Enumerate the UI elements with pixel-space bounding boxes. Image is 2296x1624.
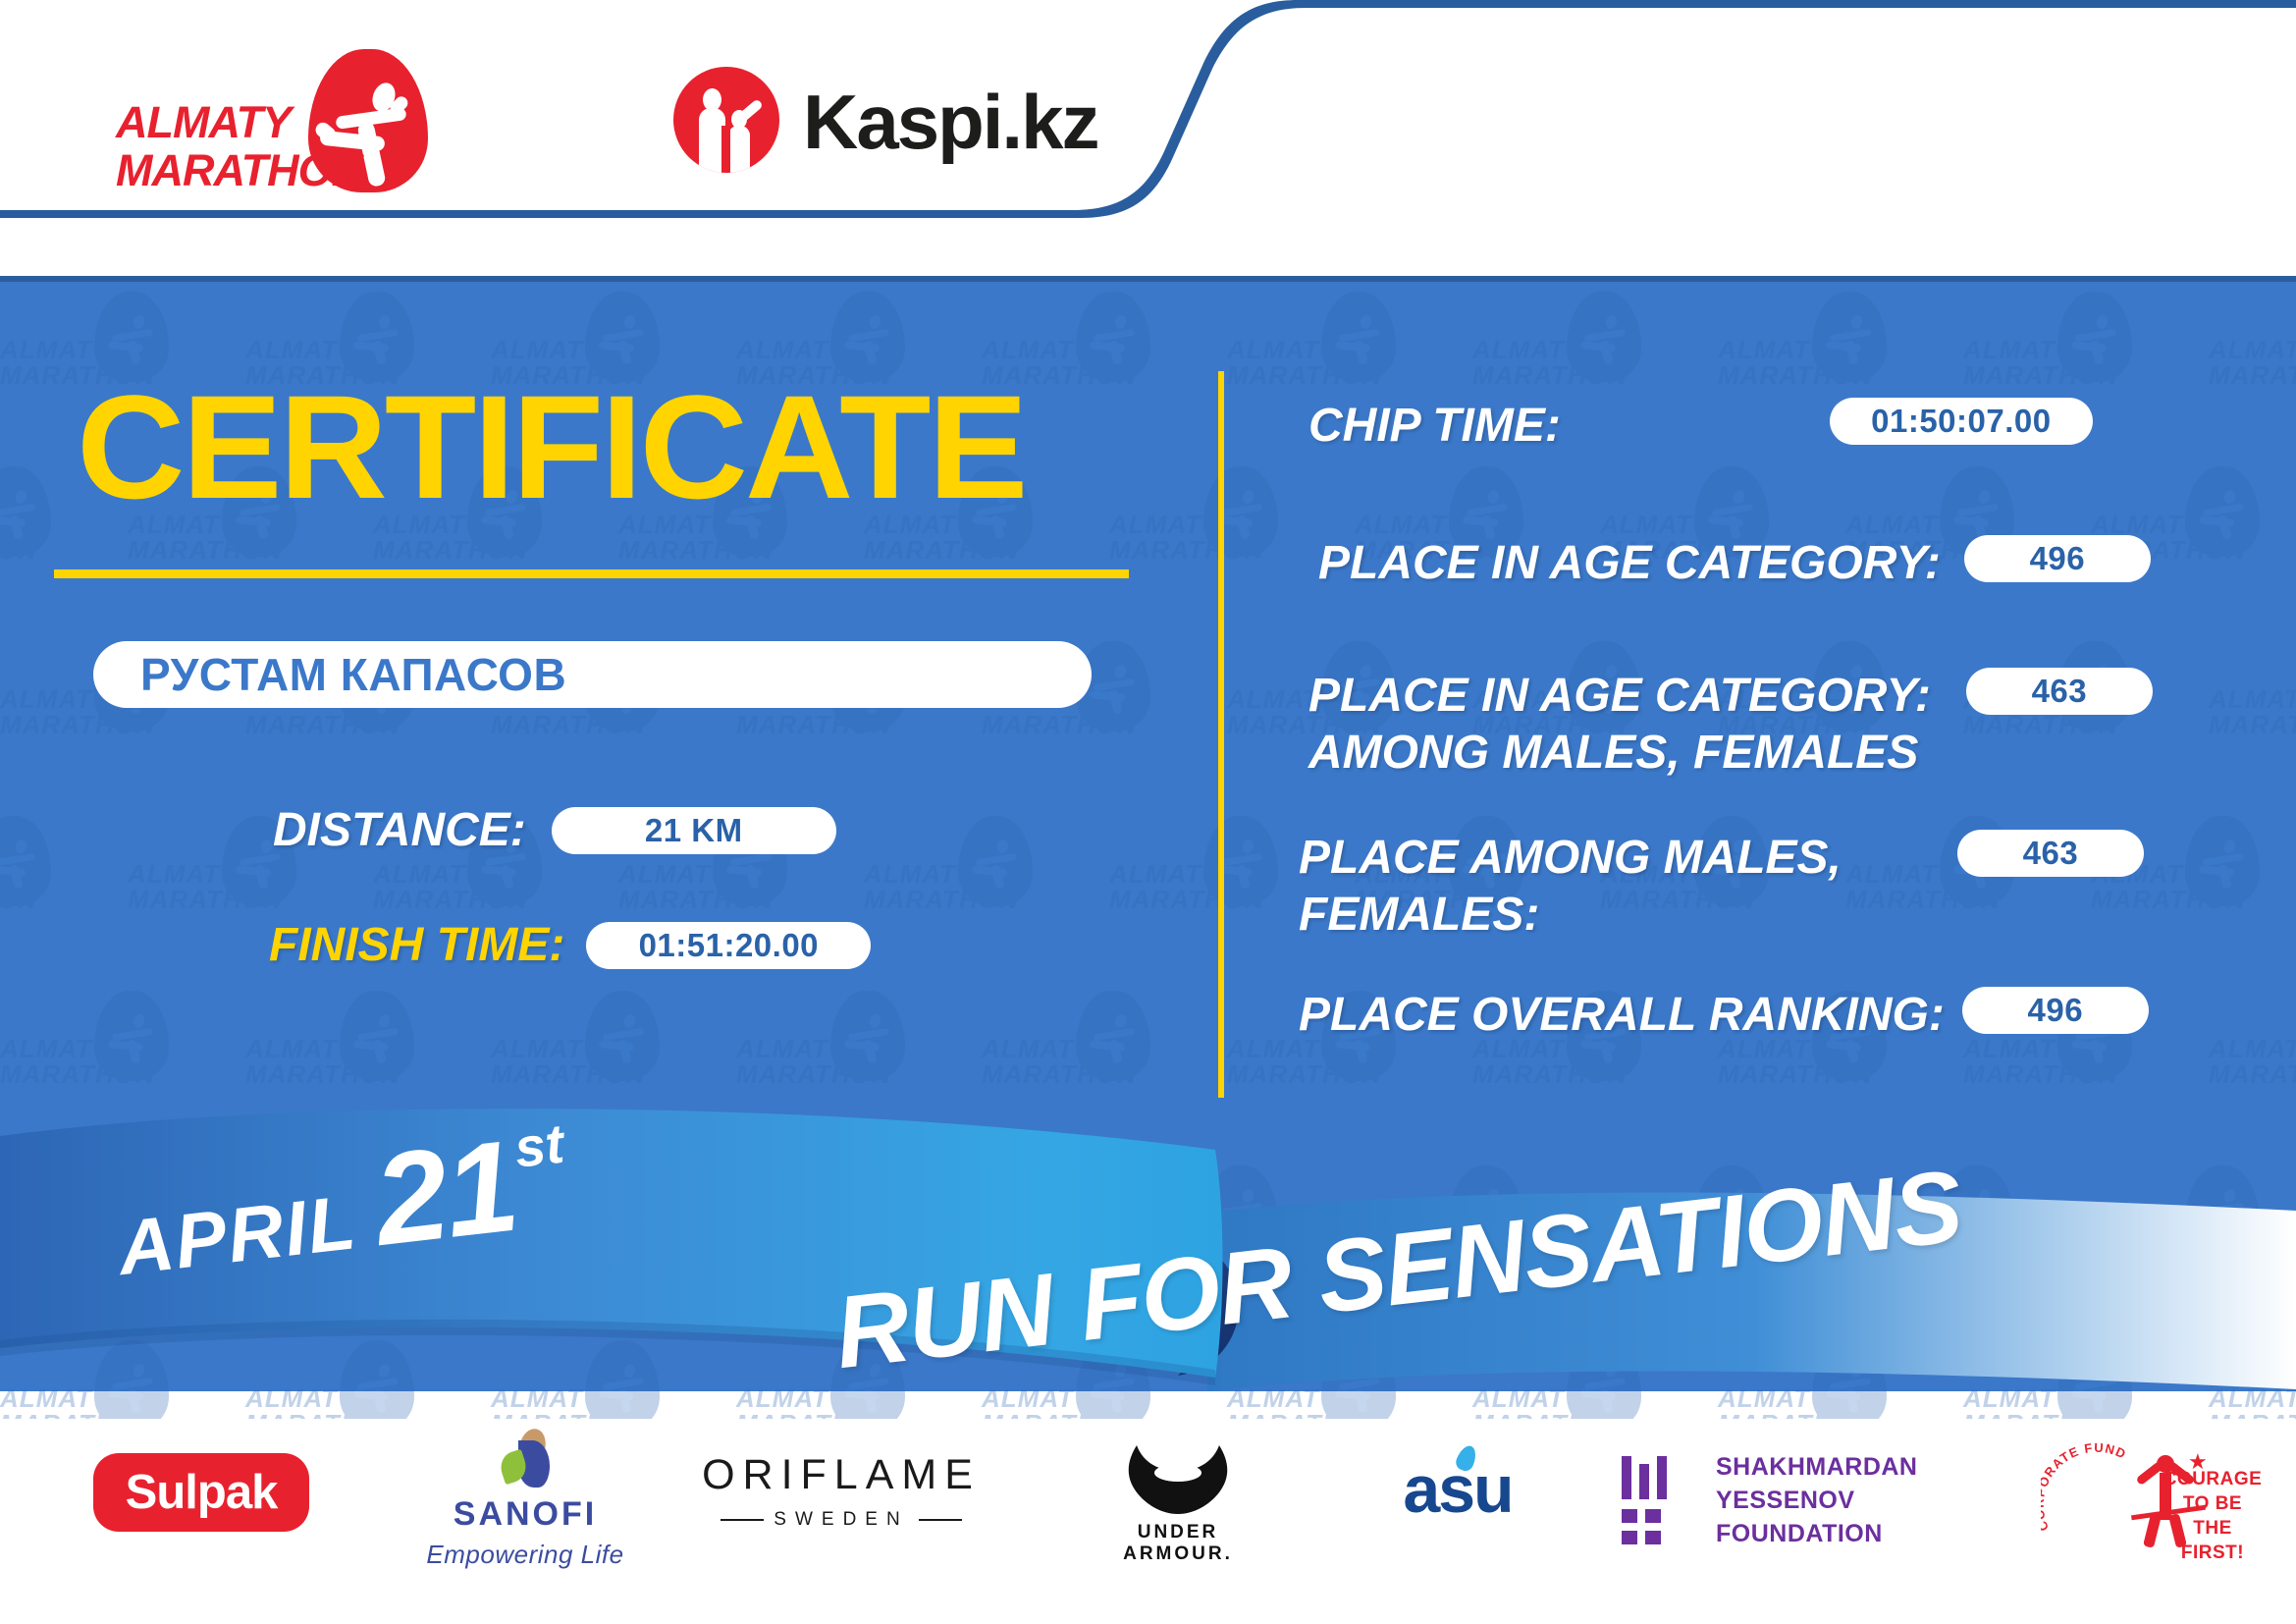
svg-text:CORPORATE FUND: CORPORATE FUND	[2041, 1441, 2129, 1533]
stat-row-place-overall-ranking: PLACE OVERALL RANKING: 496	[1299, 987, 2149, 1044]
yessenov-line-1: SHAKHMARDAN YESSENOV	[1716, 1450, 2032, 1517]
sponsor-under-armour: UNDER ARMOUR.	[1090, 1443, 1266, 1561]
place-age-category-among-value: 463	[2032, 673, 2088, 710]
stat-row-chip-time: CHIP TIME: 01:50:07.00	[1308, 398, 2093, 455]
label-line-2: AMONG MALES, FEMALES	[1308, 725, 1931, 782]
watermark-tile: ALMATYMARATHON	[1109, 806, 1296, 953]
place-age-category-value-pill: 496	[1964, 535, 2151, 582]
watermark-tile: ALMATYMARATHON	[2209, 282, 2296, 429]
column-divider	[1218, 371, 1224, 1098]
finish-time-value: 01:51:20.00	[639, 927, 819, 964]
sponsor-corporate-fund: CORPORATE FUND ★ COURAGE TO BE THE FIRST…	[2037, 1434, 2263, 1566]
sponsor-yessenov-foundation: SHAKHMARDAN YESSENOV FOUNDATION	[1620, 1446, 2032, 1554]
place-overall-ranking-value-pill: 496	[1962, 987, 2149, 1034]
under-armour-icon	[1119, 1443, 1237, 1516]
logo-line-1: ALMATY	[116, 98, 312, 146]
sponsor-asu: asu	[1364, 1451, 1551, 1549]
oriflame-rule-right	[919, 1519, 962, 1521]
label-line-2: FEMALES:	[1299, 887, 1842, 944]
oriflame-logo-text: ORIFLAME	[699, 1451, 984, 1499]
sponsor-sulpak: Sulpak	[93, 1453, 309, 1532]
place-age-category-among-label: PLACE IN AGE CATEGORY: AMONG MALES, FEMA…	[1308, 668, 1931, 782]
stat-row-place-among-males-females: PLACE AMONG MALES, FEMALES: 463	[1299, 830, 2144, 944]
finish-time-label: FINISH TIME:	[269, 918, 564, 972]
under-armour-logo-text: UNDER ARMOUR.	[1090, 1522, 1266, 1565]
place-age-category-label: PLACE IN AGE CATEGORY:	[1318, 535, 1941, 592]
cf-line-3: THE FIRST!	[2163, 1516, 2263, 1565]
certificate-page: ALMATYMARATHONALMATYMARATHONALMATYMARATH…	[0, 0, 2296, 1624]
oriflame-rule-left	[721, 1519, 764, 1521]
participant-name-field: РУСТАМ КАПАСОВ	[93, 641, 1092, 708]
place-age-category-value: 496	[2030, 540, 2086, 577]
ribbon-month: APRIL	[114, 1177, 362, 1293]
kaspi-people-icon	[673, 67, 779, 173]
kaspi-logo: Kaspi.kz	[673, 59, 1086, 177]
place-age-category-among-value-pill: 463	[1966, 668, 2153, 715]
watermark-tile: ALMATYMARATHON	[0, 806, 69, 953]
chip-time-value-pill: 01:50:07.00	[1830, 398, 2093, 445]
ribbon-ordinal-suffix: st	[511, 1111, 567, 1180]
sanofi-logo-text: SANOFI	[412, 1495, 638, 1534]
sulpak-logo-text: Sulpak	[126, 1465, 278, 1520]
label-line-1: PLACE AMONG MALES,	[1299, 830, 1842, 887]
watermark-tile: ALMATYMARATHON	[1109, 457, 1296, 604]
sanofi-tagline: Empowering Life	[412, 1540, 638, 1570]
stat-row-place-age-category: PLACE IN AGE CATEGORY: 496	[1318, 535, 2151, 592]
kaspi-logo-text: Kaspi.kz	[803, 81, 1097, 163]
yessenov-logo-text: SHAKHMARDAN YESSENOV FOUNDATION	[1716, 1450, 2032, 1550]
distance-label: DISTANCE:	[273, 803, 526, 857]
cf-line-1: COURAGE	[2163, 1467, 2263, 1491]
watermark-tile: ALMATYMARATHON	[864, 806, 1050, 953]
distance-row: DISTANCE: 21 KM	[273, 803, 836, 857]
ribbon-day: 21	[367, 1111, 523, 1274]
page-title: CERTIFICATE	[77, 373, 1025, 520]
asu-logo-text: asu	[1403, 1451, 1512, 1528]
chip-time-value: 01:50:07.00	[1871, 403, 2051, 440]
almaty-marathon-logo-text: ALMATY MARATHON	[116, 98, 312, 194]
oriflame-subtitle: SWEDEN	[774, 1509, 908, 1531]
watermark-tile: ALMATYMARATHON	[0, 457, 69, 604]
distance-value-pill: 21 KM	[552, 807, 836, 854]
finish-time-row: FINISH TIME: 01:51:20.00	[269, 918, 871, 972]
almaty-marathon-logo: ALMATY MARATHON	[116, 47, 430, 185]
watermark-tile: ALMATYMARATHON	[2209, 631, 2296, 779]
sanofi-mark-icon	[495, 1429, 556, 1489]
sponsor-oriflame: ORIFLAME SWEDEN	[699, 1451, 984, 1545]
place-overall-ranking-value: 496	[2028, 992, 2084, 1029]
sulpak-logo: Sulpak	[93, 1453, 309, 1532]
yessenov-line-2: FOUNDATION	[1716, 1517, 2032, 1550]
corporate-fund-slogan: COURAGE TO BE THE FIRST!	[2163, 1467, 2263, 1565]
finish-time-value-pill: 01:51:20.00	[586, 922, 871, 969]
distance-value: 21 KM	[645, 812, 743, 849]
oriflame-subtitle-row: SWEDEN	[699, 1509, 984, 1531]
label-line-1: PLACE IN AGE CATEGORY:	[1308, 668, 1931, 725]
sponsor-sanofi: SANOFI Empowering Life	[412, 1429, 638, 1571]
place-among-males-females-label: PLACE AMONG MALES, FEMALES:	[1299, 830, 1842, 944]
stat-row-place-age-category-among: PLACE IN AGE CATEGORY: AMONG MALES, FEMA…	[1308, 668, 2153, 782]
cf-line-2: TO BE	[2163, 1491, 2263, 1516]
title-underline	[54, 569, 1129, 578]
chip-time-label: CHIP TIME:	[1308, 398, 1561, 455]
place-overall-ranking-label: PLACE OVERALL RANKING:	[1299, 987, 1945, 1044]
logo-line-2: MARATHON	[116, 146, 312, 194]
place-among-males-females-value: 463	[2023, 835, 2079, 872]
participant-name-value: РУСТАМ КАПАСОВ	[140, 648, 566, 701]
place-among-males-females-value-pill: 463	[1957, 830, 2144, 877]
yessenov-mark-icon	[1620, 1456, 1690, 1544]
